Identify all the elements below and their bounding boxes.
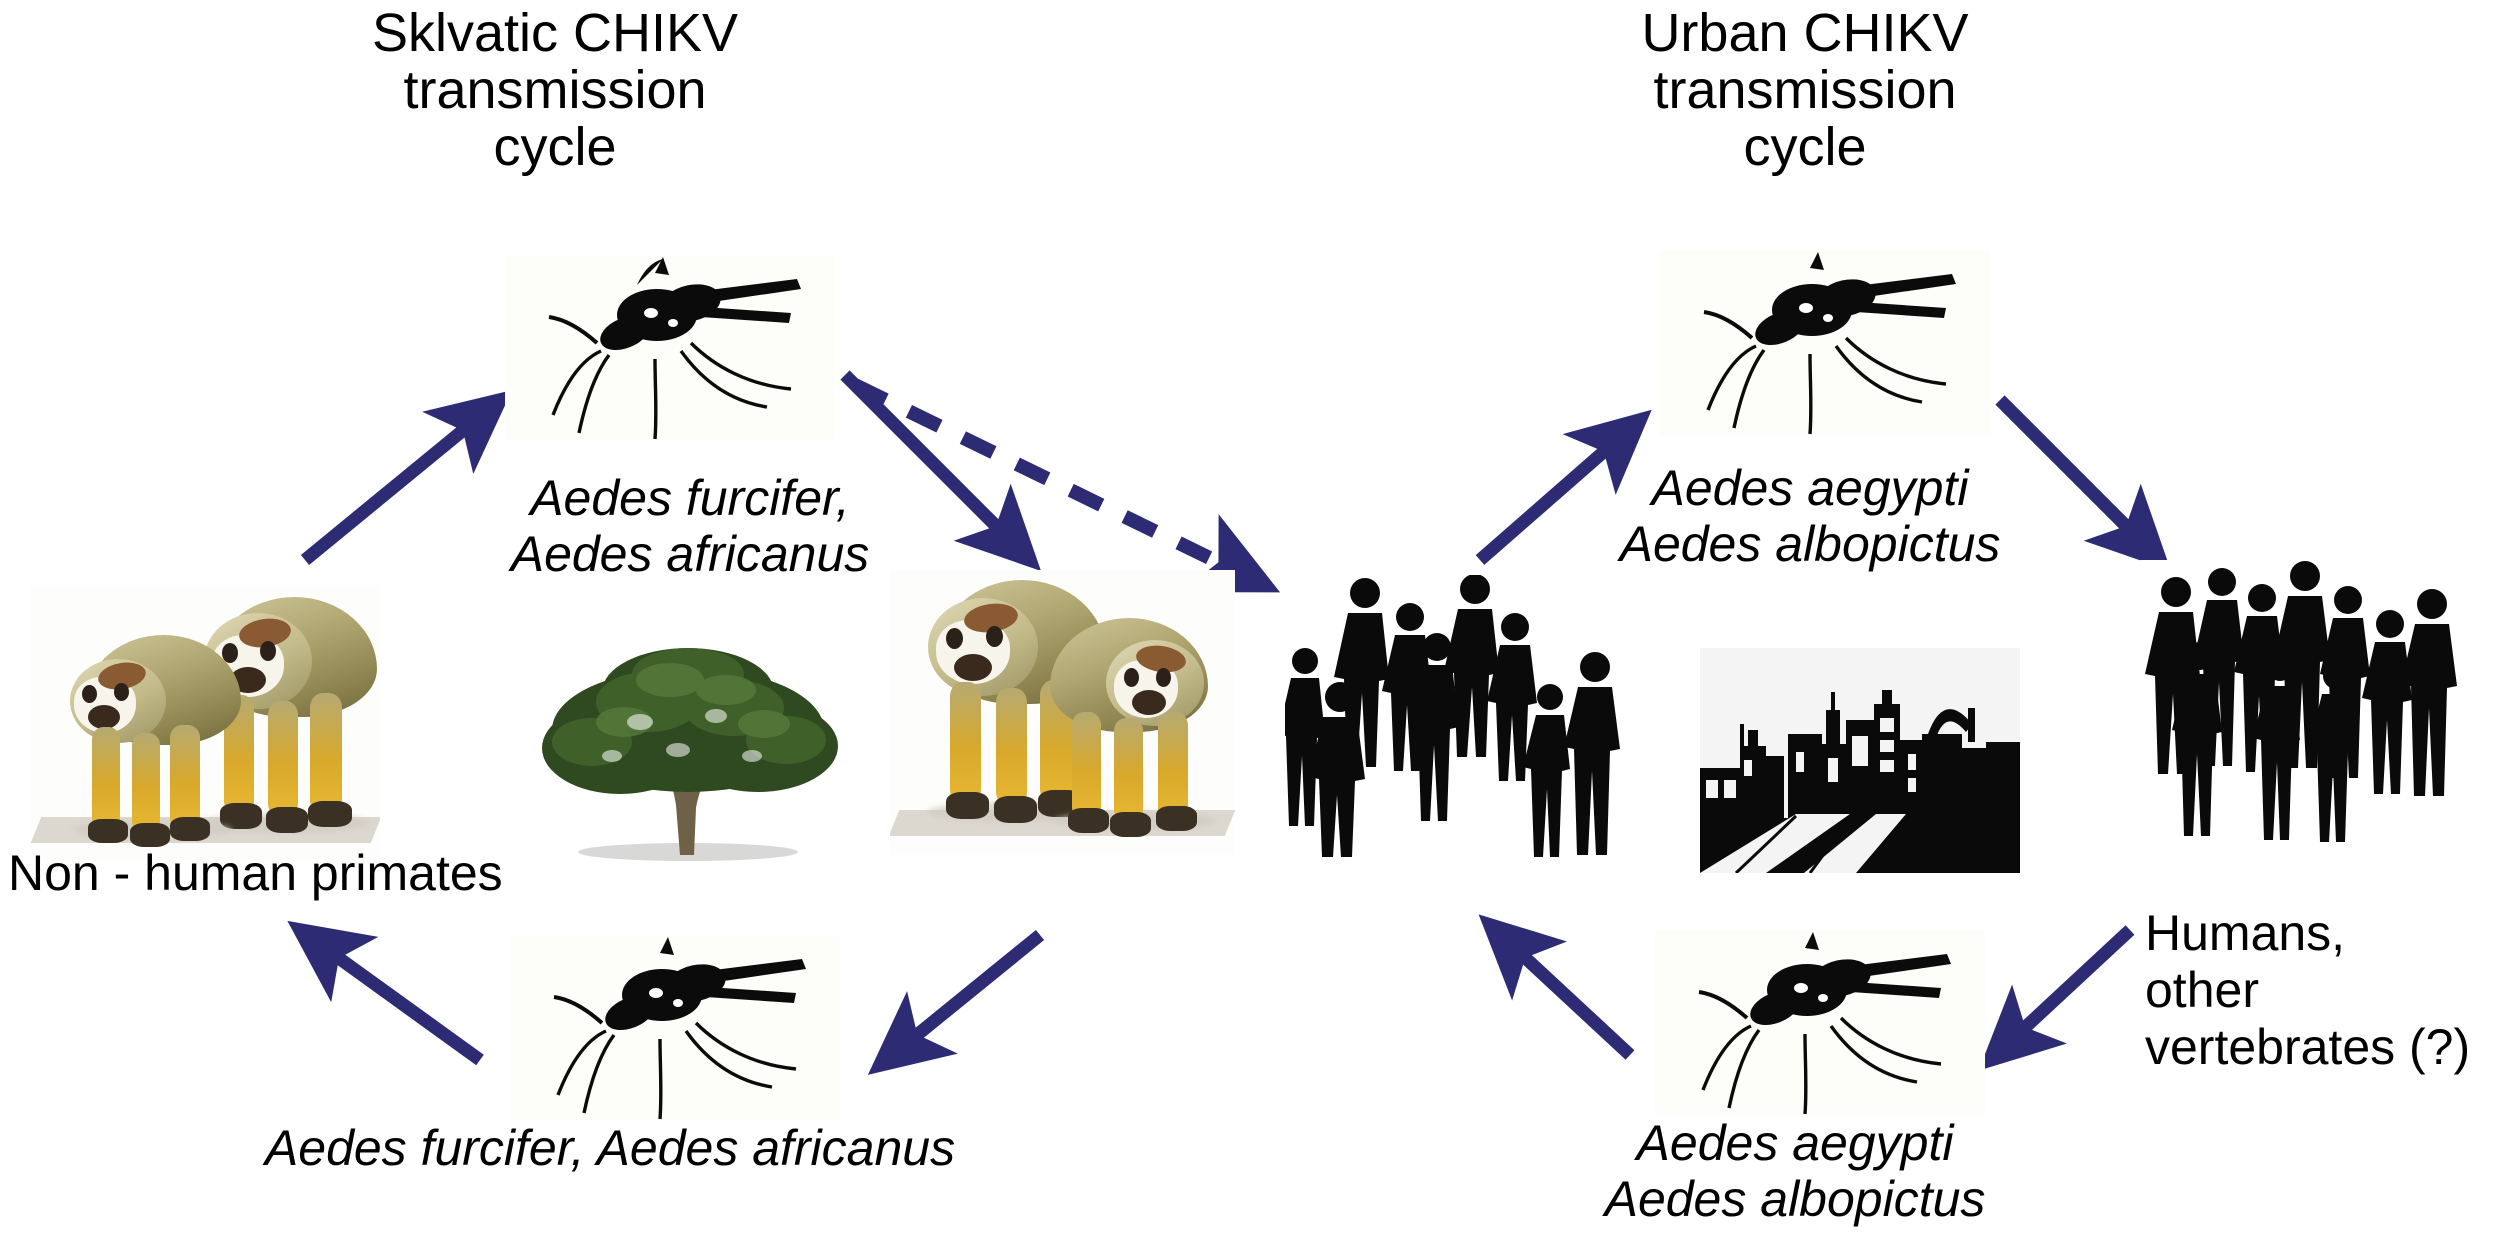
- squirrel-monkeys-icon-left: [30, 585, 380, 860]
- tree-icon: [520, 630, 850, 865]
- urban-cycle-title: Urban CHIKV transmission cycle: [1500, 5, 2110, 177]
- urban-bottom-vector-line-2: Aedes albopictus: [1545, 1171, 2045, 1227]
- urban-title-line-1: Urban CHIKV: [1500, 5, 2110, 62]
- urban-host-label: Humans, other vertebrates (?): [2145, 905, 2485, 1076]
- urban-host-label-line-3: vertebrates (?): [2145, 1019, 2485, 1076]
- sylvatic-cycle-title: Sklvatic CHIKV transmission cycle: [250, 5, 860, 177]
- arrow-sylvatic-vector-to-host-lower: [300, 930, 480, 1060]
- human-crowd-icon-left: [1285, 575, 1625, 860]
- mosquito-icon-sylvatic-top: [505, 255, 835, 440]
- urban-top-vector-line-2: Aedes albopictus: [1575, 516, 2045, 572]
- human-crowd-icon-right: [2140, 560, 2485, 850]
- city-skyline-icon: [1700, 648, 2020, 873]
- mosquito-icon-urban-bottom: [1655, 930, 1985, 1115]
- sylvatic-host-label: Non - human primates: [8, 845, 503, 902]
- sylvatic-title-line-3: cycle: [250, 119, 860, 176]
- sylvatic-title-line-2: transmission: [250, 62, 860, 119]
- sylvatic-top-vector-line-2: Aedes africanus: [455, 526, 925, 582]
- urban-host-label-line-2: other: [2145, 962, 2485, 1019]
- urban-bottom-vector-label: Aedes aegypti Aedes albopictus: [1545, 1115, 2045, 1227]
- urban-top-vector-label: Aedes aegypti Aedes albopictus: [1575, 460, 2045, 572]
- urban-bottom-vector-line-1: Aedes aegypti: [1545, 1115, 2045, 1171]
- diagram-canvas: Sklvatic CHIKV transmission cycle Urban …: [0, 0, 2500, 1243]
- urban-host-label-line-1: Humans,: [2145, 905, 2485, 962]
- arrow-urban-host-to-vector-lower: [1990, 930, 2130, 1060]
- urban-top-vector-line-1: Aedes aegypti: [1575, 460, 2045, 516]
- urban-title-line-3: cycle: [1500, 119, 2110, 176]
- mosquito-icon-urban-top: [1660, 250, 1990, 435]
- arrow-sylvatic-host-to-vector-lower: [880, 935, 1040, 1065]
- urban-title-line-2: transmission: [1500, 62, 2110, 119]
- squirrel-monkeys-icon-right: [890, 570, 1235, 855]
- sylvatic-bottom-vector-label: Aedes furcifer, Aedes africanus: [180, 1120, 1040, 1176]
- sylvatic-top-vector-line-1: Aedes furcifer,: [455, 470, 925, 526]
- sylvatic-title-line-1: Sklvatic CHIKV: [250, 5, 860, 62]
- mosquito-icon-sylvatic-bottom: [510, 935, 840, 1120]
- sylvatic-top-vector-label: Aedes furcifer, Aedes africanus: [455, 470, 925, 582]
- arrow-urban-vector-to-host-lower: [1490, 925, 1630, 1055]
